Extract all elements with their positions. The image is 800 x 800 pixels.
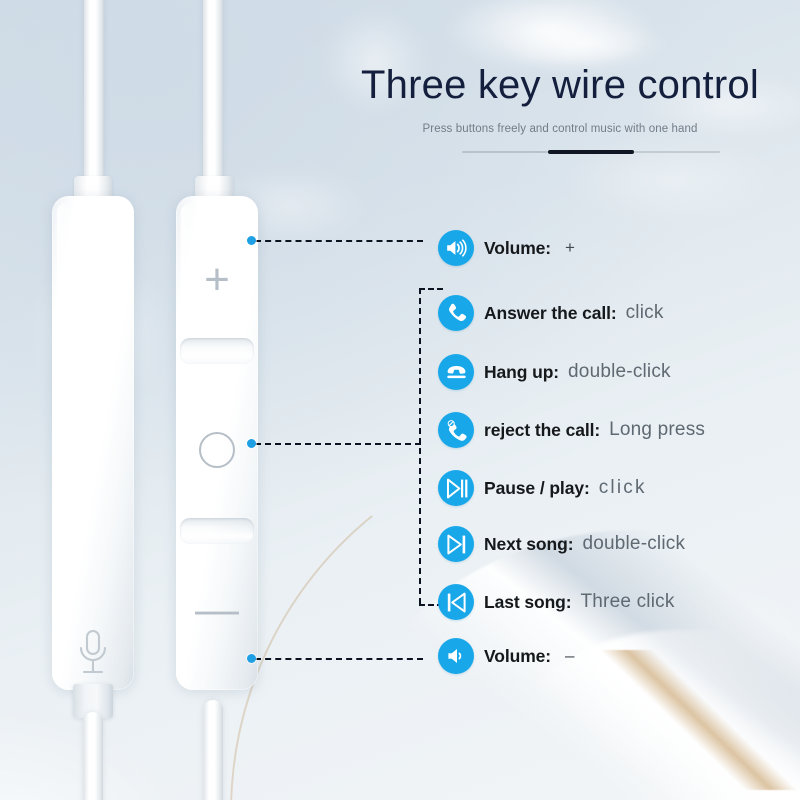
bracket-vertical-center-key — [419, 288, 421, 604]
connector-dot-volume-down — [247, 654, 256, 663]
feature-row: reject the call:Long press — [438, 410, 705, 450]
connector-line-volume-down — [255, 658, 423, 660]
feature-value: – — [565, 646, 575, 666]
page-title: Three key wire control — [344, 63, 776, 108]
feature-label: Last song: — [484, 592, 571, 613]
feature-row: Last song:Three click — [438, 582, 675, 622]
pause-play-icon — [438, 470, 474, 506]
button-groove-upper — [180, 338, 254, 364]
feature-label: Pause / play: — [484, 478, 590, 499]
hang-up-icon — [438, 354, 474, 390]
divider-segment-right — [634, 151, 720, 154]
earphone-cable-upper-right — [203, 0, 223, 204]
volume-down-key[interactable]: — — [195, 588, 239, 632]
feature-row: Volume:– — [438, 636, 575, 676]
volume-up-icon — [438, 230, 474, 266]
microphone-module — [52, 196, 134, 690]
center-key[interactable] — [199, 432, 235, 468]
feature-label: reject the call: — [484, 420, 600, 441]
feature-label: Hang up: — [484, 362, 559, 383]
feature-row: Volume:+ — [438, 228, 575, 268]
feature-value: double-click — [568, 361, 671, 383]
title-divider — [462, 150, 720, 154]
remote-control-module[interactable]: + — — [176, 196, 258, 690]
feature-value: click — [626, 302, 664, 324]
feature-value: Three click — [580, 591, 674, 613]
reject-call-icon — [438, 412, 474, 448]
feature-row: Hang up:double-click — [438, 352, 671, 392]
feature-row: Answer the call:click — [438, 293, 664, 333]
button-groove-lower — [180, 518, 254, 544]
feature-value: Long press — [609, 419, 705, 441]
answer-call-icon — [438, 295, 474, 331]
feature-row: Pause / play:click — [438, 468, 647, 508]
volume-up-key[interactable]: + — [204, 258, 230, 302]
connector-dot-center-key — [247, 439, 256, 448]
divider-segment-left — [462, 151, 548, 154]
divider-segment-center — [548, 150, 634, 154]
earphone-cable-lower-right — [203, 700, 223, 800]
feature-label: Answer the call: — [484, 303, 617, 324]
connector-dot-volume-up — [247, 236, 256, 245]
feature-value: double-click — [582, 533, 685, 555]
page-subtitle: Press buttons freely and control music w… — [390, 123, 730, 135]
microphone-icon — [73, 628, 113, 680]
last-song-icon — [438, 584, 474, 620]
infographic-canvas: + — Three key wire control Press buttons… — [0, 0, 800, 800]
module-highlight-left — [57, 204, 73, 680]
earphone-cable-upper-left — [84, 0, 104, 204]
feature-value: + — [565, 238, 575, 258]
earphone-cable-lower-left — [83, 712, 103, 800]
connector-line-volume-up — [255, 240, 423, 242]
feature-row: Next song:double-click — [438, 524, 685, 564]
feature-value: click — [599, 477, 647, 499]
feature-label: Volume: — [484, 238, 551, 259]
feature-label: Volume: — [484, 646, 551, 667]
feature-label: Next song: — [484, 534, 573, 555]
bracket-tick-top — [419, 288, 443, 290]
next-song-icon — [438, 526, 474, 562]
volume-down-icon — [438, 638, 474, 674]
connector-line-center-key — [255, 443, 421, 445]
